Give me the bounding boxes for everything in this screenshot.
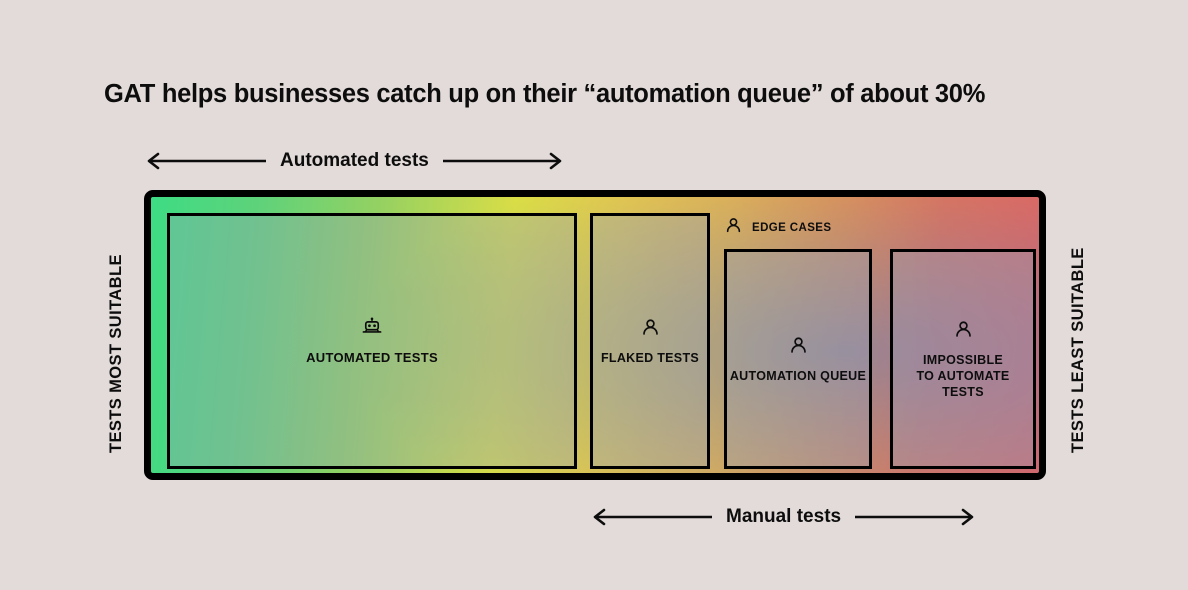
test-suitability-matrix: AUTOMATED TESTS FLAKED TESTS EDGE CASES: [144, 190, 1046, 480]
axis-label-tests-most-suitable: TESTS MOST SUITABLE: [107, 203, 126, 453]
robot-icon: [361, 316, 383, 343]
edge-cases-label: EDGE CASES: [752, 222, 831, 234]
person-icon: [953, 319, 974, 345]
person-icon: [640, 317, 661, 343]
page-title: GAT helps businesses catch up on their “…: [104, 80, 985, 109]
panel-flaked-tests[interactable]: FLAKED TESTS: [590, 213, 710, 469]
edge-cases-annotation: EDGE CASES: [724, 213, 831, 243]
axis-manual-tests: Manual tests: [590, 504, 977, 530]
arrow-left-icon: [590, 507, 712, 527]
person-icon: [724, 216, 743, 240]
panel-automation-queue[interactable]: AUTOMATION QUEUE: [724, 249, 872, 469]
axis-manual-tests-label: Manual tests: [712, 506, 855, 528]
panel-impossible-to-automate-tests[interactable]: IMPOSSIBLE TO AUTOMATE TESTS: [890, 249, 1036, 469]
arrow-left-icon: [144, 151, 266, 171]
panel-automated-tests[interactable]: AUTOMATED TESTS: [167, 213, 577, 469]
panel-automated-tests-label: AUTOMATED TESTS: [306, 350, 438, 367]
arrow-right-icon: [443, 151, 565, 171]
axis-automated-tests-label: Automated tests: [266, 150, 443, 172]
panel-automation-queue-label: AUTOMATION QUEUE: [730, 368, 866, 384]
panel-flaked-tests-label: FLAKED TESTS: [601, 350, 699, 366]
arrow-right-icon: [855, 507, 977, 527]
person-icon: [788, 335, 809, 361]
axis-label-tests-least-suitable: TESTS LEAST SUITABLE: [1069, 203, 1088, 453]
panel-impossible-to-automate-tests-label: IMPOSSIBLE TO AUTOMATE TESTS: [916, 352, 1009, 400]
axis-automated-tests: Automated tests: [144, 148, 565, 174]
